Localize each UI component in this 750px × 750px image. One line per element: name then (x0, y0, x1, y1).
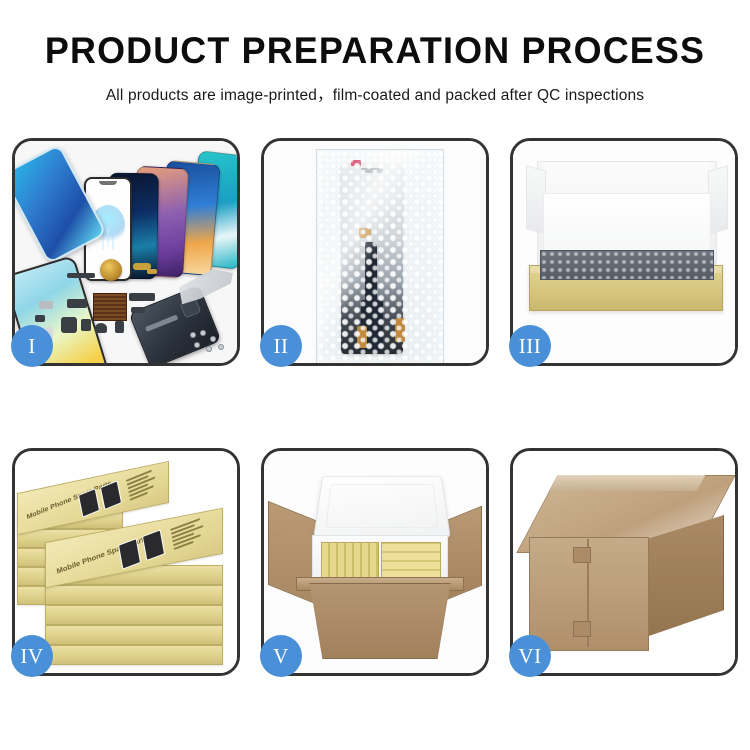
screws (189, 331, 229, 353)
step-3-image (513, 141, 735, 363)
carton-front (300, 583, 460, 659)
box-stack: Mobile Phone Spare Parts Mobile Phone Sp… (17, 465, 237, 661)
step-badge-1: I (11, 325, 53, 367)
page-header: PRODUCT PREPARATION PROCESS All products… (0, 0, 750, 105)
process-step-5[interactable]: V (261, 448, 489, 676)
spare-parts-cluster (15, 141, 237, 363)
step-badge-2: II (260, 325, 302, 367)
step-4-image: Mobile Phone Spare Parts Mobile Phone Sp… (15, 451, 237, 673)
process-step-grid: I II (12, 138, 738, 676)
bubble-wrapped-contents (540, 250, 714, 280)
process-step-4[interactable]: Mobile Phone Spare Parts Mobile Phone Sp… (12, 448, 240, 676)
yellow-box-tray (529, 265, 723, 311)
process-step-2[interactable]: II (261, 138, 489, 366)
step-1-image (15, 141, 237, 363)
bubble-wrap-bag (316, 149, 444, 363)
tweezers (179, 269, 233, 309)
step-badge-6: VI (509, 635, 551, 677)
process-step-1[interactable]: I (12, 138, 240, 366)
foam-box-lid (313, 476, 451, 538)
page-title: PRODUCT PREPARATION PROCESS (11, 32, 739, 69)
step-badge-4: IV (11, 635, 53, 677)
step-5-image (264, 451, 486, 673)
step-badge-5: V (260, 635, 302, 677)
step-badge-3: III (509, 325, 551, 367)
packing-tape (549, 475, 706, 491)
step-6-image (513, 451, 735, 673)
process-step-6[interactable]: VI (510, 448, 738, 676)
process-step-3[interactable]: III (510, 138, 738, 366)
page-subtitle: All products are image-printed，film-coat… (0, 83, 750, 105)
step-2-image (264, 141, 486, 363)
